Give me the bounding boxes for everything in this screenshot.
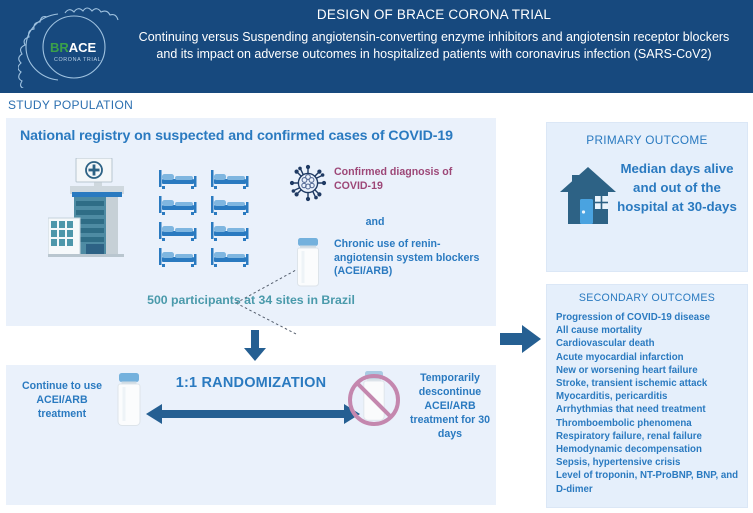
coronavirus-icon	[289, 164, 327, 207]
header-banner: BRACE CORONA TRIAL DESIGN OF BRACE CORON…	[0, 0, 753, 93]
hospital-bed-icon	[158, 166, 198, 190]
secondary-outcome-item: Arrhythmias that need treatment	[556, 403, 746, 416]
house-icon	[559, 165, 617, 230]
primary-outcome-panel: PRIMARY OUTCOME Median days alive and ou…	[546, 122, 748, 272]
inclusion-criteria-group: Confirmed diagnosis of COVID-19 and Chro…	[289, 164, 489, 293]
secondary-outcome-item: Sepsis, hypertensive crisis	[556, 456, 746, 469]
hospital-bed-icon	[158, 244, 198, 268]
hospital-bed-icon	[210, 166, 250, 190]
study-population-panel: National registry on suspected and confi…	[6, 118, 496, 326]
logo-virus-circle-icon: BRACE CORONA TRIAL	[18, 6, 126, 88]
secondary-outcomes-title: SECONDARY OUTCOMES	[547, 292, 747, 304]
secondary-outcome-item: All cause mortality	[556, 324, 746, 337]
randomization-left-arm-label: Continue to use ACEI/ARB treatment	[16, 379, 108, 421]
secondary-outcomes-list: Progression of COVID-19 diseaseAll cause…	[556, 311, 746, 496]
page-title: DESIGN OF BRACE CORONA TRIAL	[128, 6, 740, 24]
secondary-outcome-item: Hemodynamic decompensation	[556, 443, 746, 456]
secondary-outcome-item: Cardiovascular death	[556, 337, 746, 350]
criterion-confirmed-covid: Confirmed diagnosis of COVID-19	[289, 164, 489, 207]
criterion-chronic-rasb: Chronic use of renin-angiotensin system …	[289, 236, 489, 293]
header-text-block: DESIGN OF BRACE CORONA TRIAL Continuing …	[128, 6, 740, 63]
secondary-outcome-item: Stroke, transient ischemic attack	[556, 377, 746, 390]
secondary-outcome-item: Myocarditis, pericarditis	[556, 390, 746, 403]
logo-tagline: CORONA TRIAL	[54, 57, 101, 63]
hospital-bed-icon	[158, 218, 198, 242]
medicine-vial-icon	[289, 236, 327, 293]
study-population-section-label: STUDY POPULATION	[8, 98, 133, 112]
secondary-outcome-item: Progression of COVID-19 disease	[556, 311, 746, 324]
randomization-right-arm-label: Temporarily descontinue ACEI/ARB treatme…	[406, 371, 494, 441]
criterion-label: Chronic use of renin-angiotensin system …	[334, 236, 489, 279]
participants-count-label: 500 participants at 34 sites in Brazil	[6, 293, 496, 307]
criterion-label: Confirmed diagnosis of COVID-19	[334, 164, 489, 193]
page-subtitle: Continuing versus Suspending angiotensin…	[128, 29, 740, 63]
hospital-building-icon	[48, 158, 144, 267]
hospital-bed-icon	[210, 244, 250, 268]
brace-corona-trial-logo: BRACE CORONA TRIAL	[18, 6, 126, 88]
hospital-bed-icon	[210, 218, 250, 242]
secondary-outcomes-panel: SECONDARY OUTCOMES Progression of COVID-…	[546, 284, 748, 508]
hospital-bed-icon	[158, 192, 198, 216]
primary-outcome-title: PRIMARY OUTCOME	[547, 133, 747, 147]
logo-brand-suffix: ACE	[69, 40, 97, 55]
primary-outcome-text: Median days alive and out of the hospita…	[613, 159, 741, 216]
criteria-and-connector: and	[289, 216, 489, 228]
logo-brand-prefix: BR	[50, 40, 69, 55]
arrow-right-icon	[500, 324, 542, 359]
arrow-down-icon	[242, 330, 268, 367]
registry-title: National registry on suspected and confi…	[20, 128, 453, 144]
hospital-beds-group	[158, 166, 254, 270]
secondary-outcome-item: Acute myocardial infarction	[556, 351, 746, 364]
prohibited-vial-icon	[343, 369, 405, 436]
hospital-bed-icon	[210, 192, 250, 216]
secondary-outcome-item: Respiratory failure, renal failure	[556, 430, 746, 443]
double-headed-arrow-icon	[146, 403, 360, 430]
secondary-outcome-item: Level of troponin, NT-ProBNP, BNP, and D…	[556, 469, 746, 495]
medicine-vial-icon	[112, 371, 146, 434]
secondary-outcome-item: New or worsening heart failure	[556, 364, 746, 377]
randomization-panel: 1:1 RANDOMIZATION Continue to use ACEI/A…	[6, 365, 496, 505]
secondary-outcome-item: Thromboembolic phenomena	[556, 417, 746, 430]
svg-text:BRACE: BRACE	[50, 40, 97, 55]
